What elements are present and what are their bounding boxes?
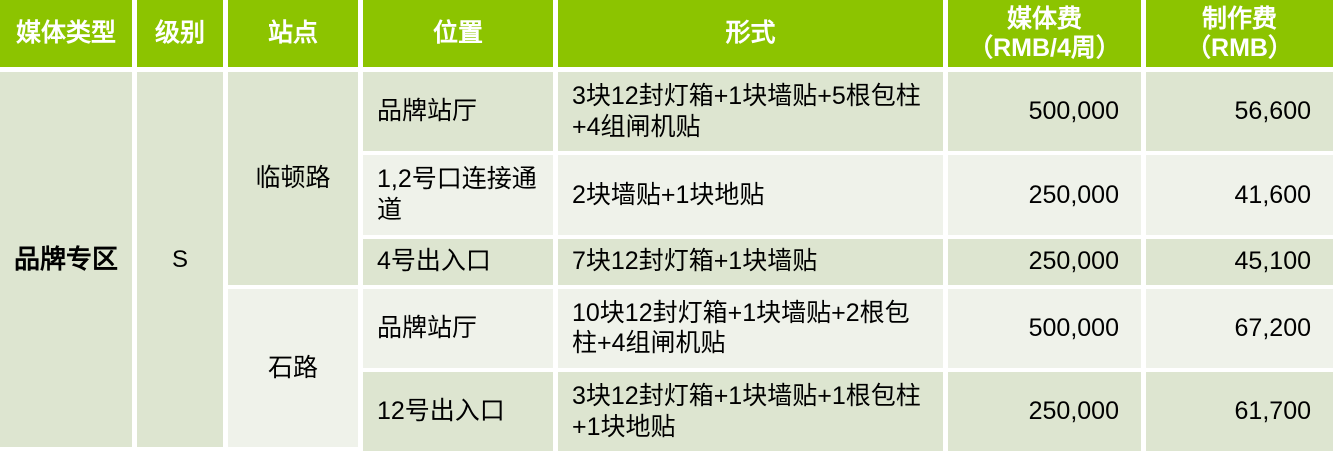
table-header: 媒体类型 级别 站点 位置 形式 媒体费 （RMB/4周） 制作费 （RMB）	[0, 0, 1333, 72]
cell-position: 品牌站厅	[363, 72, 558, 155]
cell-position: 1,2号口连接通道	[363, 155, 558, 238]
cell-media-fee: 500,000	[948, 289, 1146, 372]
cell-position: 12号出入口	[363, 372, 558, 451]
cell-prod-fee: 41,600	[1146, 155, 1333, 238]
cell-format: 2块墙贴+1块地贴	[558, 155, 948, 238]
column-header-media-fee-title: 媒体费	[954, 5, 1135, 34]
cell-format: 3块12封灯箱+1块墙贴+5根包柱+4组闸机贴	[558, 72, 948, 155]
column-header-station: 站点	[228, 0, 363, 72]
cell-media-fee: 250,000	[948, 239, 1146, 289]
cell-position: 4号出入口	[363, 239, 558, 289]
column-header-position: 位置	[363, 0, 558, 72]
table-header-row: 媒体类型 级别 站点 位置 形式 媒体费 （RMB/4周） 制作费 （RMB）	[0, 0, 1333, 72]
cell-station-lindunlu: 临顿路	[228, 72, 363, 289]
cell-prod-fee: 56,600	[1146, 72, 1333, 155]
table-body: 品牌专区 S 临顿路 品牌站厅 3块12封灯箱+1块墙贴+5根包柱+4组闸机贴 …	[0, 72, 1333, 451]
cell-media-fee: 250,000	[948, 155, 1146, 238]
cell-format: 3块12封灯箱+1块墙贴+1根包柱+1块地贴	[558, 372, 948, 451]
column-header-prod-fee-title: 制作费	[1152, 5, 1327, 34]
column-header-media-fee: 媒体费 （RMB/4周）	[948, 0, 1146, 72]
column-header-prod-fee-unit: （RMB）	[1152, 34, 1327, 63]
column-header-format: 形式	[558, 0, 948, 72]
cell-format: 10块12封灯箱+1块墙贴+2根包柱+4组闸机贴	[558, 289, 948, 372]
cell-prod-fee: 45,100	[1146, 239, 1333, 289]
cell-position: 品牌站厅	[363, 289, 558, 372]
column-header-media-fee-unit: （RMB/4周）	[954, 34, 1135, 63]
column-header-media-type: 媒体类型	[0, 0, 137, 72]
cell-level: S	[137, 72, 228, 451]
cell-media-type: 品牌专区	[0, 72, 137, 451]
cell-media-fee: 500,000	[948, 72, 1146, 155]
column-header-level: 级别	[137, 0, 228, 72]
cell-prod-fee: 61,700	[1146, 372, 1333, 451]
table-row: 品牌专区 S 临顿路 品牌站厅 3块12封灯箱+1块墙贴+5根包柱+4组闸机贴 …	[0, 72, 1333, 155]
cell-format: 7块12封灯箱+1块墙贴	[558, 239, 948, 289]
cell-media-fee: 250,000	[948, 372, 1146, 451]
media-rate-table: 媒体类型 级别 站点 位置 形式 媒体费 （RMB/4周） 制作费 （RMB） …	[0, 0, 1333, 451]
cell-station-shilu: 石路	[228, 289, 363, 451]
cell-prod-fee: 67,200	[1146, 289, 1333, 372]
column-header-prod-fee: 制作费 （RMB）	[1146, 0, 1333, 72]
